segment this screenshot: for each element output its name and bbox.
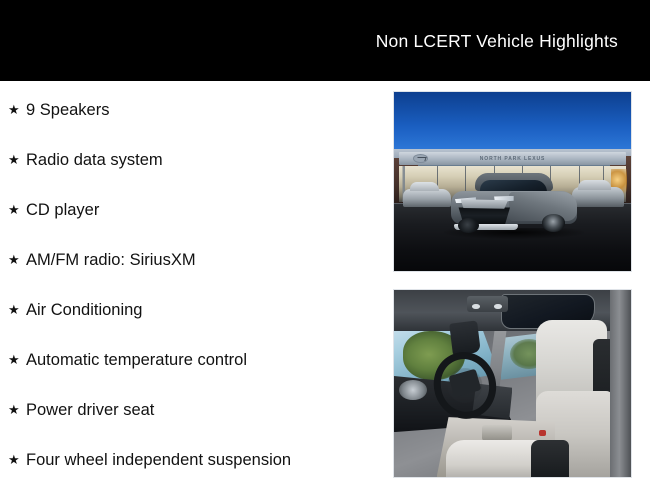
- list-item-label: Air Conditioning: [26, 297, 142, 323]
- star-bullet-icon: ★: [8, 247, 26, 273]
- interior-photo-scene: [394, 290, 631, 477]
- list-item: ★ Automatic temperature control: [8, 347, 247, 373]
- dealership-sign-text: NORTH PARK LEXUS: [451, 155, 574, 163]
- star-bullet-icon: ★: [8, 447, 26, 473]
- slide-header-bar: Non LCERT Vehicle Highlights: [0, 0, 650, 81]
- star-bullet-icon: ★: [8, 347, 26, 373]
- list-item: ★ 9 Speakers: [8, 97, 109, 123]
- page-title: Non LCERT Vehicle Highlights: [376, 30, 618, 52]
- suv-rear-wheel: [542, 214, 566, 232]
- suv-grille-chrome: [461, 199, 509, 209]
- suv-front-wheel: [458, 218, 479, 233]
- b-pillar-trim: [610, 290, 631, 477]
- exterior-photo-scene: NORTH PARK LEXUS: [394, 92, 631, 271]
- list-item: ★ Radio data system: [8, 147, 163, 173]
- list-item-label: Power driver seat: [26, 397, 154, 423]
- list-item-label: Radio data system: [26, 147, 163, 173]
- gear-shifter: [482, 425, 513, 442]
- star-bullet-icon: ★: [8, 97, 26, 123]
- star-bullet-icon: ★: [8, 397, 26, 423]
- list-item-label: AM/FM radio: SiriusXM: [26, 247, 196, 273]
- lexus-rx-suv: [444, 173, 584, 241]
- list-item: ★ CD player: [8, 197, 99, 223]
- highlights-bullet-list: ★ 9 Speakers ★ Radio data system ★ CD pl…: [0, 95, 380, 480]
- slide-canvas: Non LCERT Vehicle Highlights ★ 9 Speaker…: [0, 0, 650, 488]
- list-item: ★ Four wheel independent suspension: [8, 447, 291, 473]
- list-item-label: CD player: [26, 197, 99, 223]
- exterior-photo: NORTH PARK LEXUS: [393, 91, 632, 272]
- star-bullet-icon: ★: [8, 297, 26, 323]
- list-item: ★ Power driver seat: [8, 397, 154, 423]
- star-bullet-icon: ★: [8, 197, 26, 223]
- driver-seat-bolster: [531, 440, 569, 477]
- seat-release-lever: [539, 430, 546, 436]
- list-item: ★ AM/FM radio: SiriusXM: [8, 247, 196, 273]
- list-item: ★ Air Conditioning: [8, 297, 142, 323]
- rearview-mirror: [449, 320, 481, 355]
- list-item-label: Four wheel independent suspension: [26, 447, 291, 473]
- list-item-label: 9 Speakers: [26, 97, 109, 123]
- list-item-label: Automatic temperature control: [26, 347, 247, 373]
- star-bullet-icon: ★: [8, 147, 26, 173]
- interior-photo: [393, 289, 632, 478]
- dome-light-icon: [494, 304, 502, 309]
